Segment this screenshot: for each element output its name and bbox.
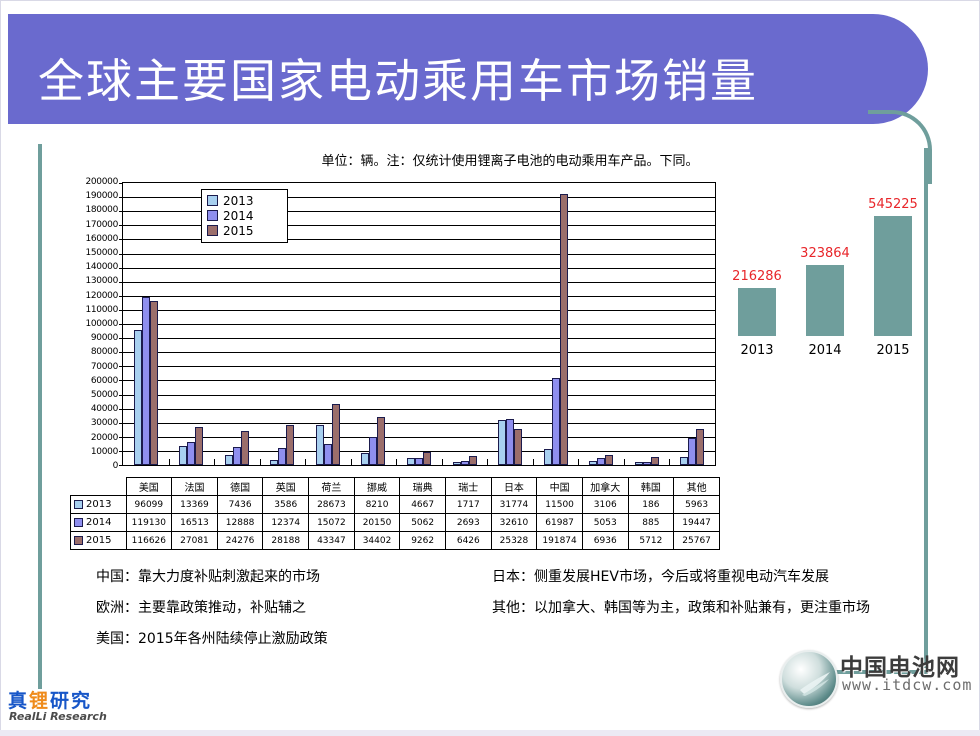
main-bar-chart: 2000001900001800001700001600001500001400…	[70, 178, 720, 488]
table-row: 2014119130165131288812374150722015050622…	[71, 514, 720, 532]
total-bar-2013	[738, 288, 776, 336]
y-tick-label: 60000	[91, 376, 118, 386]
table-cell: 13369	[172, 496, 218, 514]
table-col-header: 美国	[126, 478, 172, 496]
table-cell: 27081	[172, 532, 218, 550]
table-cell: 3106	[582, 496, 628, 514]
y-tick-label: 0	[113, 461, 118, 471]
bar-2014	[415, 458, 423, 465]
total-value-label: 323864	[780, 246, 870, 261]
chart-plot-area: 201320142015	[122, 182, 716, 466]
bar-cluster	[305, 183, 351, 465]
bullet-item: 美国：2015年各州陆续停止激励政策	[96, 624, 328, 655]
logo-bl-en: RealLi Research	[9, 710, 107, 723]
total-value-label: 545225	[848, 197, 938, 212]
category-separator	[624, 459, 625, 465]
bar-2013	[680, 457, 688, 465]
legend-label: 2015	[223, 224, 254, 238]
bar-2013	[498, 420, 506, 465]
table-cell: 186	[628, 496, 674, 514]
y-axis-labels: 2000001900001800001700001600001500001400…	[70, 182, 118, 466]
table-row-header: 2014	[71, 514, 127, 532]
bar-cluster	[578, 183, 624, 465]
table-cell: 6936	[582, 532, 628, 550]
legend-item-2013: 2013	[207, 193, 282, 208]
bar-cluster	[487, 183, 533, 465]
bar-2015	[423, 452, 431, 465]
table-cell: 28188	[263, 532, 309, 550]
total-year-label: 2014	[795, 343, 855, 358]
logo-bl-char3: 研究	[50, 690, 92, 712]
header-bar: 全球主要国家电动乘用车市场销量	[8, 14, 928, 124]
table-cell: 885	[628, 514, 674, 532]
legend-swatch-icon	[207, 225, 218, 236]
bar-2013	[361, 453, 369, 465]
y-tick-label: 180000	[85, 205, 118, 215]
total-bar-2014	[806, 265, 844, 336]
logo-bl-cn: 真锂研究	[8, 686, 92, 713]
chart-data-table: 美国法国德国英国荷兰挪威瑞典瑞士日本中国加拿大韩国其他 201396099133…	[70, 477, 720, 550]
bar-2015	[377, 417, 385, 466]
bar-2015	[605, 455, 613, 465]
table-cell: 119130	[126, 514, 172, 532]
chart-note: 单位：辆。注：仅统计使用锂离子电池的电动乘用车产品。下同。	[300, 150, 720, 169]
table-cell: 25328	[491, 532, 537, 550]
y-tick-label: 190000	[85, 191, 118, 201]
table-row-header: 2013	[71, 496, 127, 514]
category-separator	[442, 459, 443, 465]
bar-2014	[597, 458, 605, 465]
table-col-header: 中国	[537, 478, 583, 496]
y-tick-label: 30000	[91, 418, 118, 428]
bar-2015	[195, 427, 203, 465]
bar-2013	[316, 425, 324, 465]
table-cell: 28673	[309, 496, 355, 514]
bar-2015	[286, 425, 294, 465]
table-col-header: 其他	[674, 478, 720, 496]
bar-2014	[688, 438, 696, 465]
table-cell: 24276	[217, 532, 263, 550]
table-col-header: 韩国	[628, 478, 674, 496]
table-row: 2015116626270812427628188433473440292626…	[71, 532, 720, 550]
table-row-header: 2015	[71, 532, 127, 550]
bar-cluster	[669, 183, 715, 465]
table-cell: 12374	[263, 514, 309, 532]
category-separator	[214, 459, 215, 465]
bar-2013	[225, 455, 233, 465]
table-col-header: 挪威	[354, 478, 400, 496]
bar-2014	[506, 419, 514, 465]
bar-2014	[278, 448, 286, 465]
bar-2014	[187, 442, 195, 465]
legend-label: 2013	[223, 194, 254, 208]
category-separator	[487, 459, 488, 465]
table-cell: 116626	[126, 532, 172, 550]
category-separator	[351, 459, 352, 465]
total-year-label: 2015	[863, 343, 923, 358]
table-cell: 96099	[126, 496, 172, 514]
bar-2014	[643, 462, 651, 465]
table-cell: 25767	[674, 532, 720, 550]
total-bar-2015	[874, 216, 912, 336]
bottom-strip	[0, 730, 980, 736]
header-underline	[8, 126, 928, 131]
page-title: 全球主要国家电动乘用车市场销量	[38, 50, 868, 120]
y-tick-label: 120000	[85, 291, 118, 301]
legend-swatch-icon	[207, 210, 218, 221]
series-swatch-icon	[74, 500, 83, 509]
table-cell: 19447	[674, 514, 720, 532]
logo-realli-research: 真锂研究 RealLi Research	[6, 684, 136, 728]
table-cell: 5053	[582, 514, 628, 532]
table-cell: 9262	[400, 532, 446, 550]
category-separator	[669, 459, 670, 465]
y-tick-label: 50000	[91, 390, 118, 400]
y-tick-label: 20000	[91, 433, 118, 443]
table-col-header: 德国	[217, 478, 263, 496]
table-cell: 5963	[674, 496, 720, 514]
series-swatch-icon	[74, 536, 83, 545]
bar-cluster	[396, 183, 442, 465]
category-separator	[305, 459, 306, 465]
bar-2013	[453, 462, 461, 465]
y-tick-label: 140000	[85, 262, 118, 272]
bar-2015	[469, 456, 477, 465]
legend-label: 2014	[223, 209, 254, 223]
bar-2015	[150, 301, 158, 465]
y-tick-label: 200000	[85, 177, 118, 187]
table-cell: 2693	[445, 514, 491, 532]
totals-bar-chart: 216286201332386420145452252015	[720, 178, 920, 358]
total-value-label: 216286	[712, 269, 802, 284]
table-col-header: 英国	[263, 478, 309, 496]
swoosh-icon	[798, 668, 832, 698]
table-cell: 191874	[537, 532, 583, 550]
bar-2014	[233, 447, 241, 465]
table-cell: 3586	[263, 496, 309, 514]
table-body: 2013960991336974363586286738210466717173…	[71, 496, 720, 550]
table-cell: 12888	[217, 514, 263, 532]
logo-bl-char1: 真	[8, 690, 29, 712]
bar-2015	[514, 429, 522, 465]
bar-2014	[552, 378, 560, 465]
logo-globe-icon	[780, 650, 838, 708]
bullet-item: 日本：侧重发展HEV市场，今后或将重视电动汽车发展	[492, 562, 870, 593]
bar-2015	[651, 457, 659, 465]
legend-swatch-icon	[207, 195, 218, 206]
table-col-header: 法国	[172, 478, 218, 496]
category-separator	[169, 459, 170, 465]
table-col-header: 加拿大	[582, 478, 628, 496]
table-cell: 16513	[172, 514, 218, 532]
category-separator	[533, 459, 534, 465]
y-tick-label: 70000	[91, 362, 118, 372]
table-col-header: 瑞士	[445, 478, 491, 496]
y-tick-label: 90000	[91, 333, 118, 343]
bullet-column-left: 中国：靠大力度补贴刺激起来的市场欧洲：主要靠政策推动，补贴辅之美国：2015年各…	[96, 562, 328, 655]
table-cell: 7436	[217, 496, 263, 514]
frame-line-left	[38, 144, 42, 689]
bullet-item: 其他：以加拿大、韩国等为主，政策和补贴兼有，更注重市场	[492, 593, 870, 624]
table-cell: 43347	[309, 532, 355, 550]
table-cell: 61987	[537, 514, 583, 532]
y-tick-label: 100000	[85, 319, 118, 329]
bar-2013	[179, 446, 187, 465]
legend-item-2015: 2015	[207, 223, 282, 238]
bar-cluster	[123, 183, 169, 465]
table-cell: 5712	[628, 532, 674, 550]
bar-2015	[332, 404, 340, 465]
table-header-row: 美国法国德国英国荷兰挪威瑞典瑞士日本中国加拿大韩国其他	[71, 478, 720, 496]
category-separator	[260, 459, 261, 465]
logo-url: www.itdcw.com	[842, 676, 972, 694]
bar-2014	[461, 461, 469, 465]
bar-2013	[407, 458, 415, 465]
bar-2014	[324, 444, 332, 465]
bar-2015	[241, 431, 249, 465]
total-year-label: 2013	[727, 343, 787, 358]
bar-2014	[142, 297, 150, 465]
table-cell: 34402	[354, 532, 400, 550]
bar-cluster	[351, 183, 397, 465]
series-swatch-icon	[74, 518, 83, 527]
chart-legend: 201320142015	[201, 189, 288, 243]
frame-line-right	[924, 148, 928, 668]
legend-item-2014: 2014	[207, 208, 282, 223]
table-cell: 4667	[400, 496, 446, 514]
bar-2013	[270, 460, 278, 465]
y-tick-label: 150000	[85, 248, 118, 258]
table-cell: 20150	[354, 514, 400, 532]
y-tick-label: 170000	[85, 220, 118, 230]
y-tick-label: 160000	[85, 234, 118, 244]
logo-china-battery-network: 中国电池网 www.itdcw.com	[774, 646, 974, 708]
table-cell: 31774	[491, 496, 537, 514]
bar-2015	[560, 194, 568, 465]
bar-2014	[369, 437, 377, 465]
bar-cluster	[442, 183, 488, 465]
bullet-column-right: 日本：侧重发展HEV市场，今后或将重视电动汽车发展其他：以加拿大、韩国等为主，政…	[492, 562, 870, 624]
table-col-header: 瑞典	[400, 478, 446, 496]
y-tick-label: 80000	[91, 347, 118, 357]
bar-2013	[589, 461, 597, 465]
bar-cluster	[533, 183, 579, 465]
table-cell: 8210	[354, 496, 400, 514]
slide: 全球主要国家电动乘用车市场销量 单位：辆。注：仅统计使用锂离子电池的电动乘用车产…	[0, 0, 980, 736]
category-separator	[396, 459, 397, 465]
bullet-item: 欧洲：主要靠政策推动，补贴辅之	[96, 593, 328, 624]
logo-bl-char2: 锂	[29, 690, 50, 712]
table-cell: 5062	[400, 514, 446, 532]
category-separator	[578, 459, 579, 465]
y-tick-label: 110000	[85, 305, 118, 315]
y-tick-label: 40000	[91, 404, 118, 414]
table-corner-cell	[71, 478, 127, 496]
bar-2013	[635, 462, 643, 465]
y-tick-label: 130000	[85, 276, 118, 286]
table-cell: 6426	[445, 532, 491, 550]
bullet-item: 中国：靠大力度补贴刺激起来的市场	[96, 562, 328, 593]
table-cell: 32610	[491, 514, 537, 532]
bar-2015	[696, 429, 704, 465]
table-col-header: 荷兰	[309, 478, 355, 496]
y-tick-mark	[119, 465, 123, 466]
table-cell: 11500	[537, 496, 583, 514]
table-row: 2013960991336974363586286738210466717173…	[71, 496, 720, 514]
y-tick-label: 10000	[91, 447, 118, 457]
table-cell: 1717	[445, 496, 491, 514]
bar-cluster	[624, 183, 670, 465]
bar-2013	[544, 449, 552, 465]
table-cell: 15072	[309, 514, 355, 532]
table-col-header: 日本	[491, 478, 537, 496]
bar-2013	[134, 330, 142, 465]
